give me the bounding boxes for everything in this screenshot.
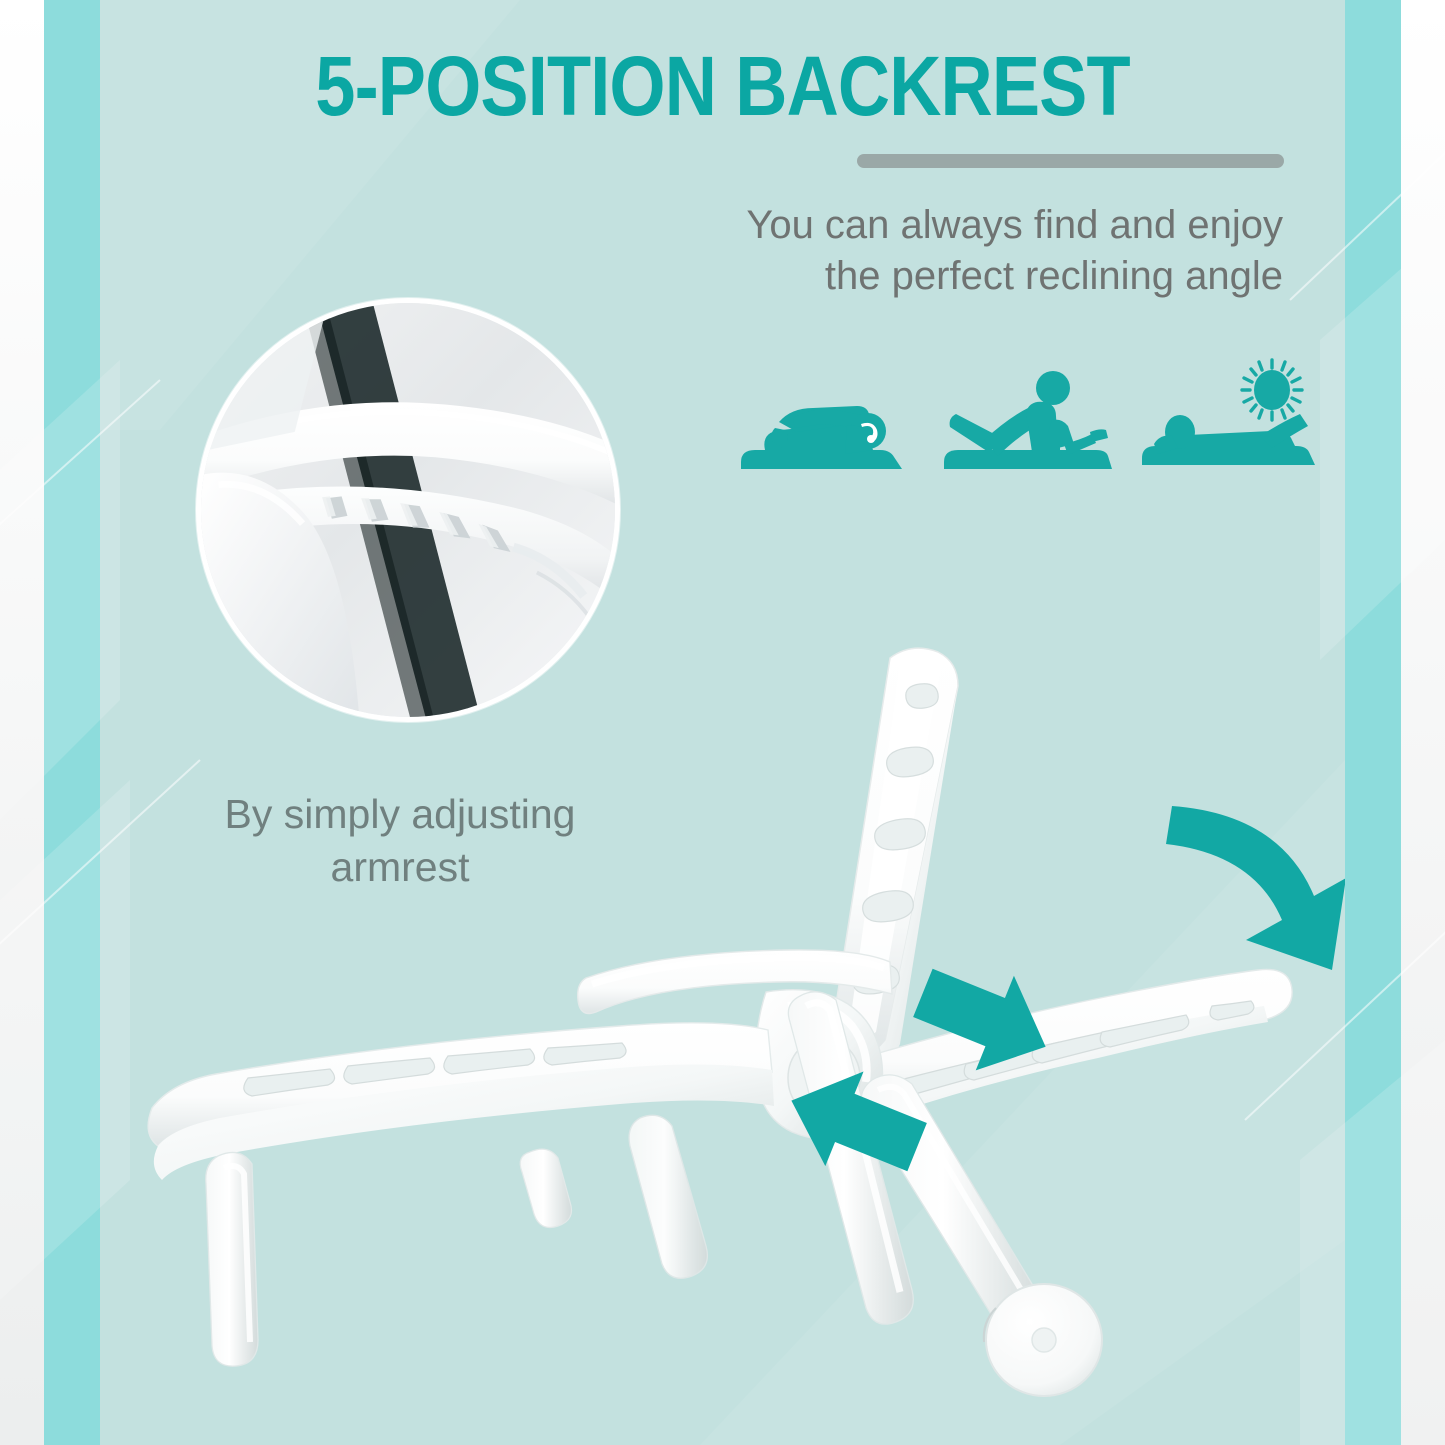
pictogram-sunbathing-flat bbox=[1140, 358, 1325, 490]
promo-banner: 5-POSITION BACKREST You can always find … bbox=[0, 0, 1445, 1445]
position-pictogram-row bbox=[735, 358, 1335, 490]
recline-curved-arrow bbox=[1166, 806, 1345, 970]
title-divider-bar bbox=[857, 154, 1284, 168]
sun-icon bbox=[1242, 360, 1302, 420]
left-white-margin bbox=[0, 0, 44, 1445]
subtitle: You can always find and enjoy the perfec… bbox=[663, 200, 1283, 302]
subtitle-line-2: the perfect reclining angle bbox=[825, 254, 1283, 298]
product-photo bbox=[100, 640, 1345, 1400]
pictogram-reclined-sitting bbox=[940, 358, 1125, 490]
front-leg-left bbox=[206, 1152, 258, 1366]
left-cyan-stripe bbox=[44, 0, 100, 1445]
center-support-leg bbox=[629, 1115, 707, 1278]
sun-lounger-illustration bbox=[100, 640, 1345, 1400]
rear-foot bbox=[520, 1149, 571, 1227]
page-title: 5-POSITION BACKREST bbox=[101, 38, 1344, 135]
subtitle-line-1: You can always find and enjoy bbox=[746, 203, 1283, 247]
pictogram-lying-flat-with-headphones bbox=[735, 358, 920, 490]
right-cyan-stripe bbox=[1345, 0, 1401, 1445]
caster-wheel bbox=[984, 1284, 1102, 1396]
right-white-margin bbox=[1401, 0, 1445, 1445]
